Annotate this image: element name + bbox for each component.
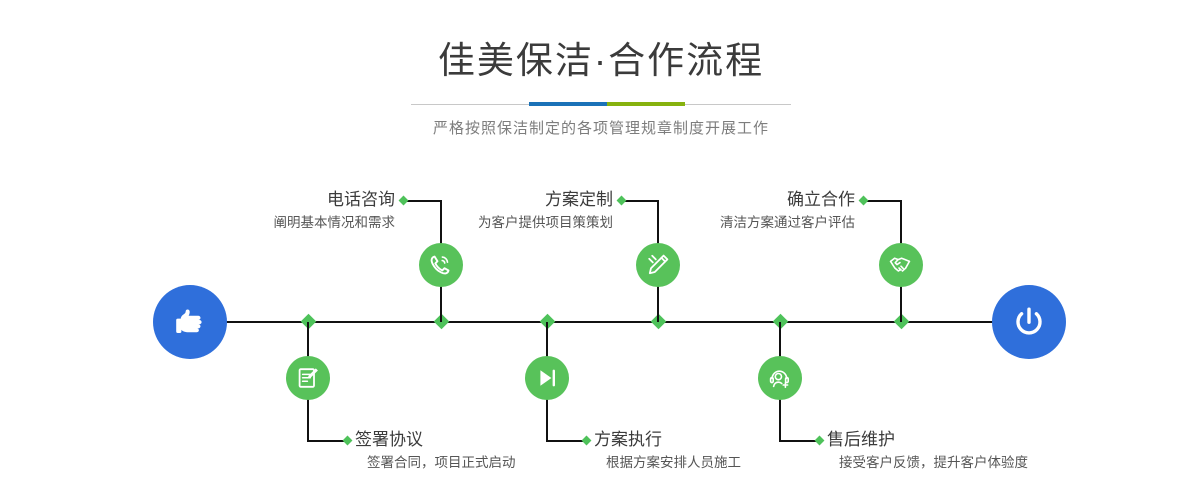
step-6-desc: 接受客户反馈，提升客户体验度 [839,454,1187,472]
handshake-icon [888,252,914,278]
step-5-desc: 清洁方案通过客户评估 [540,214,855,232]
step-3-icon-node[interactable] [636,243,680,287]
document-edit-icon [295,365,321,391]
process-flow-diagram: 电话咨询 阐明基本情况和需求 签署协议 签署合同，项目正式启动 [0,0,1202,502]
step-6-connector-horizontal [779,440,819,442]
step-4-icon-node[interactable] [525,356,569,400]
phone-call-icon [428,252,454,278]
pointing-hand-icon [170,302,210,342]
flow-chart-page: 佳美保洁·合作流程 严格按照保洁制定的各项管理规章制度开展工作 [0,0,1202,502]
flow-start-endpoint[interactable] [153,285,227,359]
power-icon [1009,302,1049,342]
step-5-label: 确立合作 清洁方案通过客户评估 [540,190,855,232]
step-5-label-marker [859,196,869,206]
step-5-icon-node[interactable] [879,243,923,287]
step-5-connector-horizontal [866,200,901,202]
flow-end-endpoint[interactable] [992,285,1066,359]
step-4-connector-horizontal [546,440,586,442]
pencil-design-icon [645,252,671,278]
step-5-title: 确立合作 [540,190,855,210]
step-2-label-marker [343,436,353,446]
step-2-icon-node[interactable] [286,356,330,400]
step-6-icon-node[interactable] [758,356,802,400]
step-1-icon-node[interactable] [419,243,463,287]
play-execute-icon [534,365,560,391]
step-2-connector-horizontal [307,440,347,442]
step-6-label: 售后维护 接受客户反馈，提升客户体验度 [827,430,1187,472]
step-6-title: 售后维护 [827,430,1187,450]
customer-support-add-icon [767,365,793,391]
